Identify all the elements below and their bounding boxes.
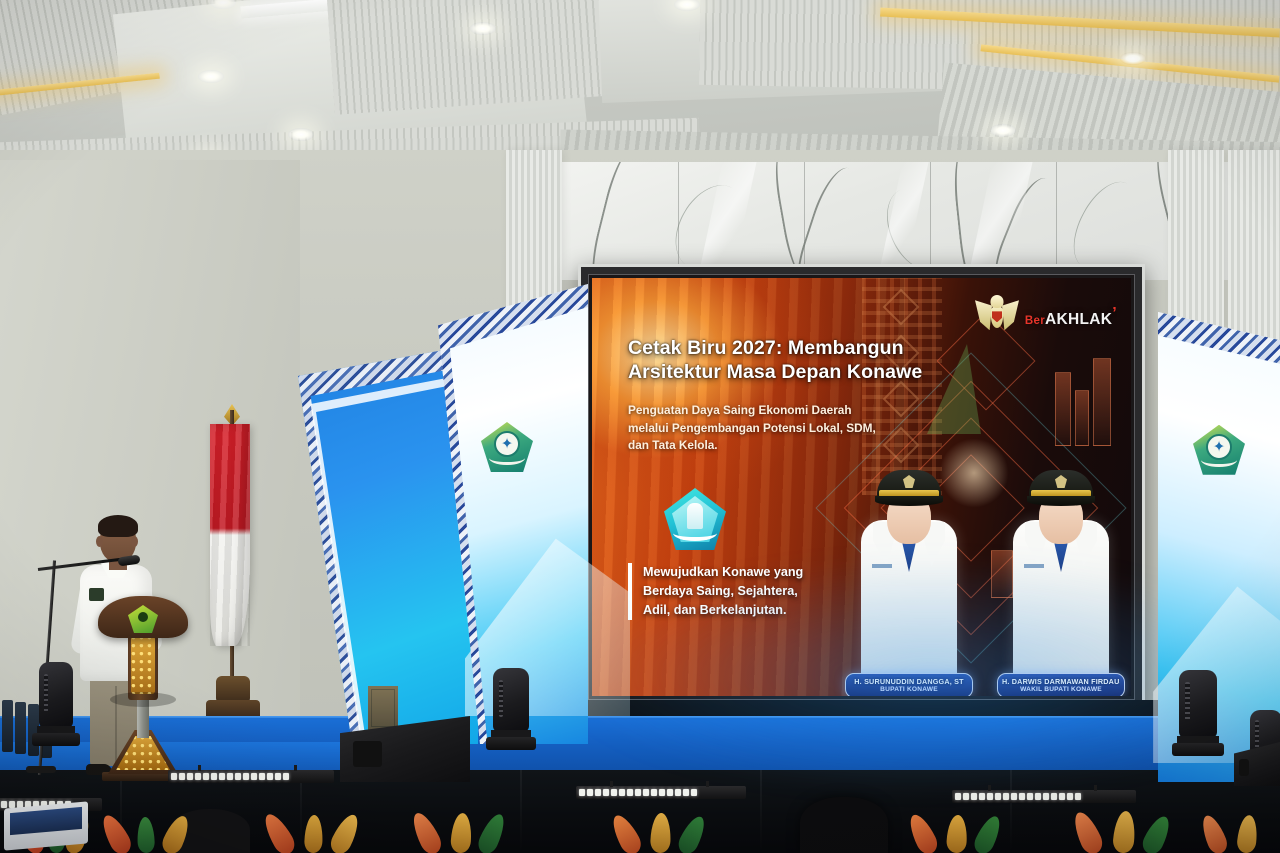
wall-column: [1168, 150, 1224, 330]
official-title: WAKIL BUPATI KONAWE: [1002, 686, 1120, 693]
official-title: BUPATI KONAWE: [850, 686, 968, 693]
official-portrait-bupati: H. SURUNUDDIN DANGGA, ST BUPATI KONAWE: [854, 456, 964, 692]
berakhlak-prefix: Ber: [1025, 315, 1045, 327]
side-table: [368, 686, 398, 730]
moving-head-light: [32, 680, 80, 746]
ceiling-downlight: [288, 128, 314, 141]
ceiling-downlight: [470, 22, 496, 35]
marble-wall-band: [560, 162, 1260, 280]
moving-head-light: [1172, 688, 1224, 756]
indonesian-flag: [210, 424, 250, 646]
decorative-plant: [916, 805, 1012, 853]
slide-subtitle: Penguatan Daya Saing Ekonomi Daerah mela…: [628, 402, 888, 455]
decorative-plant: [276, 803, 368, 853]
konawe-regency-emblem-icon: [664, 488, 726, 550]
decorative-plant: [1206, 809, 1280, 853]
moving-head-light: [486, 686, 536, 750]
ceiling-downlight: [1120, 52, 1146, 65]
speaking-podium: [104, 596, 182, 780]
berakhlak-logo: BerAKHLAK’: [1025, 305, 1117, 329]
audience-silhouette: [800, 797, 888, 853]
official-name: H. SURUNUDDIN DANGGA, ST: [850, 677, 968, 686]
berakhlak-suffix: AKHLAK: [1045, 311, 1112, 328]
konawe-regency-emblem-icon: ✦: [481, 422, 533, 472]
ceremonial-cap-icon: [877, 470, 941, 500]
slide-vision-text: Mewujudkan Konawe yang Berdaya Saing, Se…: [643, 563, 818, 620]
decorative-plant: [1080, 801, 1180, 853]
decorative-plant: [620, 803, 716, 853]
decorative-plant: [420, 801, 516, 853]
konawe-regency-emblem-icon: ✦: [1193, 425, 1245, 475]
official-name: H. DARWIS DARMAWAN FIRDAUS, S.Si: [1002, 677, 1120, 686]
led-bar-light: [168, 770, 334, 783]
garuda-pancasila-icon: [975, 292, 1019, 338]
microphone-stand-base: [26, 766, 56, 773]
slide-vision-block: Mewujudkan Konawe yang Berdaya Saing, Se…: [628, 563, 818, 620]
laptop-device: [4, 801, 88, 850]
decorative-plant: [112, 805, 202, 853]
presentation-slide: Cetak Biru 2027: Membangun Arsitektur Ma…: [592, 278, 1131, 696]
ceiling-downlight: [990, 124, 1016, 137]
official-portrait-wakil-bupati: H. DARWIS DARMAWAN FIRDAUS, S.Si WAKIL B…: [1005, 456, 1117, 692]
led-bar-light: [576, 786, 746, 799]
official-nameplate-bupati: H. SURUNUDDIN DANGGA, ST BUPATI KONAWE: [845, 673, 973, 696]
ceremonial-cap-icon: [1029, 470, 1093, 500]
event-photo-scene: Cetak Biru 2027: Membangun Arsitektur Ma…: [0, 0, 1280, 853]
ceiling-downlight: [198, 70, 224, 83]
official-nameplate-wakil-bupati: H. DARWIS DARMAWAN FIRDAUS, S.Si WAKIL B…: [997, 673, 1125, 696]
slide-title: Cetak Biru 2027: Membangun Arsitektur Ma…: [628, 336, 958, 384]
